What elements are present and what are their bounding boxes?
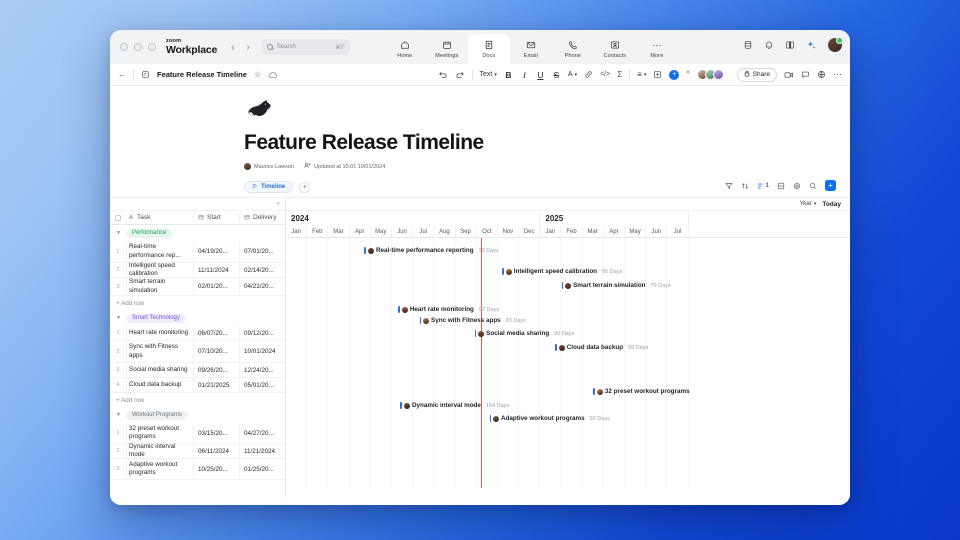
row-delivery-date[interactable]: 02/14/20... bbox=[239, 263, 285, 277]
gantt-gridline bbox=[456, 238, 477, 488]
row-delivery-date[interactable]: 11/21/2024 bbox=[239, 444, 285, 458]
row-task-name[interactable]: Dynamic interval mode bbox=[126, 444, 193, 458]
chevron-down-icon-zoom: ▾ bbox=[814, 201, 817, 207]
row-start-date[interactable]: 10/25/20... bbox=[193, 459, 239, 479]
column-header-delivery-label: Delivery bbox=[253, 214, 276, 221]
row-number: 2 bbox=[110, 263, 126, 277]
gantt-bar-duration: 164 Days bbox=[486, 403, 509, 409]
lock-icon bbox=[744, 70, 750, 79]
gantt-bar-avatar bbox=[493, 416, 499, 422]
gantt-month-label: Jul bbox=[667, 226, 688, 237]
gantt-gridline bbox=[307, 238, 328, 488]
row-number: 3 bbox=[110, 278, 126, 295]
row-start-date[interactable]: 07/10/20... bbox=[193, 341, 239, 362]
gantt-month-label: Jun bbox=[646, 226, 667, 237]
gantt-bar-label: Smart terrain simulation bbox=[573, 282, 645, 289]
maximize-window-button[interactable] bbox=[148, 43, 156, 51]
gantt-bar[interactable]: Smart terrain simulation79 Days bbox=[562, 280, 671, 291]
gantt-bar-label: Heart rate monitoring bbox=[410, 306, 474, 313]
gantt-gridline bbox=[434, 238, 455, 488]
updated-text: Updated at 10:01 10/01/2024 bbox=[314, 164, 385, 170]
row-task-name[interactable]: Cloud data backup bbox=[126, 378, 193, 392]
row-number: 3 bbox=[110, 363, 126, 377]
gantt-gridline bbox=[328, 238, 349, 488]
gantt-month-header: JanFebMarAprMayJunJulAugSepOctNovDecJanF… bbox=[286, 226, 850, 238]
timeline-toolbar: 1 + bbox=[725, 180, 836, 191]
timeline-tab-strip: Timeline + 1 bbox=[244, 181, 850, 193]
history-icon bbox=[304, 162, 311, 171]
timeline-view-icon bbox=[252, 183, 258, 191]
gantt-bar-avatar bbox=[423, 318, 429, 324]
row-task-name[interactable]: Smart terrain simulation bbox=[126, 278, 193, 295]
zoom-level-label: Year bbox=[800, 201, 812, 207]
chevron-down-icon-2: ▾ bbox=[575, 72, 578, 78]
doc-title-toolbar[interactable]: Feature Release Timeline bbox=[157, 70, 247, 79]
zoom-level-dropdown[interactable]: Year ▾ bbox=[800, 201, 817, 207]
column-header-task[interactable]: Task bbox=[126, 214, 193, 222]
gantt-month-label: Nov bbox=[498, 226, 519, 237]
gantt-month-label: Jan bbox=[540, 226, 561, 237]
table-row[interactable]: 4 Cloud data backup 01/21/2025 05/01/20.… bbox=[110, 378, 285, 393]
eagle-cover-image bbox=[244, 98, 274, 120]
gantt-gridline bbox=[646, 238, 667, 488]
gantt-bar-handle[interactable] bbox=[490, 415, 492, 422]
sort-icon[interactable] bbox=[741, 182, 749, 190]
font-color-button[interactable]: A ▾ bbox=[568, 71, 577, 78]
add-record-button[interactable]: + bbox=[825, 180, 836, 191]
chevron-down-icon: ▾ bbox=[494, 72, 497, 78]
gantt-month-label: Apr bbox=[350, 226, 371, 237]
collaborator-avatar-3[interactable] bbox=[713, 69, 724, 80]
gantt-bar-avatar bbox=[404, 403, 410, 409]
row-task-name[interactable]: 32 preset workout programs bbox=[126, 423, 193, 443]
tab-phone[interactable]: Phone bbox=[552, 34, 594, 64]
gantt-bar-avatar bbox=[565, 283, 571, 289]
group-badge-smart-technology: Smart Technology bbox=[126, 314, 186, 323]
chevron-down-icon-group-3[interactable]: ▼ bbox=[116, 412, 121, 418]
row-number: 2 bbox=[110, 444, 126, 458]
notifications-bell-icon[interactable] bbox=[764, 40, 774, 50]
row-height-icon[interactable] bbox=[777, 182, 785, 190]
insert-plus-button[interactable]: + bbox=[669, 70, 679, 80]
toolbar-divider-3 bbox=[629, 69, 630, 80]
gantt-month-label: Feb bbox=[307, 226, 328, 237]
tab-email-label: Email bbox=[524, 53, 538, 59]
gantt-year-header: 20242025 bbox=[286, 211, 850, 226]
gantt-gridline bbox=[371, 238, 392, 488]
gantt-month-label: Aug bbox=[434, 226, 455, 237]
redo-icon[interactable] bbox=[455, 70, 465, 79]
gantt-bar[interactable]: Dynamic interval mode164 Days bbox=[400, 400, 509, 411]
add-row-button[interactable]: + Add row bbox=[110, 296, 285, 310]
group-header-smart-technology[interactable]: ▼ Smart Technology bbox=[110, 310, 285, 326]
gantt-bar-label: Social media sharing bbox=[486, 330, 549, 337]
global-search-input[interactable]: Search ⌘F bbox=[262, 39, 350, 55]
table-row[interactable]: 3 Adaptive workout programs 10/25/20... … bbox=[110, 459, 285, 480]
task-column-icon bbox=[128, 214, 134, 222]
add-row-button[interactable]: + Add row bbox=[110, 393, 285, 407]
row-number: 1 bbox=[110, 423, 126, 443]
home-icon bbox=[400, 40, 410, 51]
phone-icon bbox=[568, 40, 578, 51]
settings-gear-icon[interactable] bbox=[793, 182, 801, 190]
document-header-block: Feature Release Timeline Maurice Lawson … bbox=[110, 86, 850, 171]
gantt-bar-duration: 83 Days bbox=[506, 318, 526, 324]
gantt-bar-handle[interactable] bbox=[400, 402, 402, 409]
row-start-date[interactable]: 11/11/2024 bbox=[193, 263, 239, 277]
select-all-checkbox[interactable] bbox=[110, 215, 126, 221]
table-row[interactable]: 2 Intelligent speed calibration 11/11/20… bbox=[110, 263, 285, 278]
gantt-bar-label: Intelligent speed calibration bbox=[514, 268, 597, 275]
gantt-gridline bbox=[667, 238, 688, 488]
gantt-gridline bbox=[413, 238, 434, 488]
gantt-bar-avatar bbox=[559, 345, 565, 351]
underline-button[interactable]: U bbox=[536, 70, 545, 80]
insert-media-icon[interactable] bbox=[653, 70, 662, 79]
gantt-gridline bbox=[286, 238, 307, 488]
row-start-date[interactable]: 04/19/20... bbox=[193, 241, 239, 262]
row-delivery-date[interactable]: 05/01/20... bbox=[239, 378, 285, 392]
gantt-bar[interactable]: Adaptive workout programs92 Days bbox=[490, 413, 610, 424]
gantt-gridline bbox=[350, 238, 371, 488]
row-start-date[interactable]: 09/26/20... bbox=[193, 363, 239, 377]
storage-icon[interactable] bbox=[743, 40, 753, 50]
document-toolbar: ← Feature Release Timeline ☆ Text ▾ B I … bbox=[110, 64, 850, 86]
document-meta: Maurice Lawson Updated at 10:01 10/01/20… bbox=[244, 162, 850, 171]
row-delivery-date[interactable]: 10/01/2024 bbox=[239, 341, 285, 362]
gantt-container: « Task Start bbox=[110, 197, 850, 497]
gantt-bar-duration: 97 Days bbox=[479, 307, 499, 313]
font-color-label: A bbox=[568, 71, 573, 78]
group-header-workout-programs[interactable]: ▼ Workout Programs bbox=[110, 407, 285, 423]
gantt-month-label: Oct bbox=[477, 226, 498, 237]
gantt-bar[interactable]: Real-time performance reporting73 Days bbox=[364, 245, 498, 256]
video-call-icon[interactable] bbox=[784, 71, 794, 79]
gantt-bar[interactable]: Social media sharing90 Days bbox=[475, 328, 575, 339]
document-icon bbox=[484, 40, 494, 51]
chevron-down-icon-3: ▾ bbox=[644, 72, 647, 78]
italic-button[interactable]: I bbox=[520, 70, 529, 80]
gantt-plot-area: Real-time performance reporting73 DaysIn… bbox=[286, 238, 850, 488]
gantt-bar-duration: 92 Days bbox=[590, 416, 610, 422]
bold-button[interactable]: B bbox=[504, 70, 513, 80]
code-icon[interactable]: </> bbox=[600, 71, 610, 78]
gantt-bar-duration: 95 Days bbox=[602, 269, 622, 275]
search-placeholder: Search bbox=[277, 44, 296, 50]
user-avatar[interactable] bbox=[828, 38, 842, 52]
tab-email[interactable]: Email bbox=[510, 34, 552, 64]
gantt-bar-label: Sync with Fitness apps bbox=[431, 317, 501, 324]
table-row[interactable]: 2 Sync with Fitness apps 07/10/20... 10/… bbox=[110, 341, 285, 363]
gantt-bar-handle[interactable] bbox=[475, 330, 477, 337]
document-updated: Updated at 10:01 10/01/2024 bbox=[304, 162, 385, 171]
tab-phone-label: Phone bbox=[565, 53, 581, 59]
gantt-bar-handle[interactable] bbox=[398, 306, 400, 313]
cloud-sync-icon bbox=[268, 71, 278, 79]
window-titlebar: zoom Workplace ‹ › Search ⌘F Home Mee bbox=[110, 30, 850, 64]
author-name: Maurice Lawson bbox=[254, 164, 294, 170]
gantt-month-label: Dec bbox=[519, 226, 540, 237]
minimize-window-button[interactable] bbox=[134, 43, 142, 51]
row-number: 1 bbox=[110, 326, 126, 340]
group-icon[interactable]: 1 bbox=[757, 182, 769, 190]
column-header-start-label: Start bbox=[207, 214, 221, 221]
gantt-bar-handle[interactable] bbox=[502, 268, 504, 275]
close-window-button[interactable] bbox=[120, 43, 128, 51]
text-style-label: Text bbox=[480, 71, 493, 78]
collapse-toolbar-icon[interactable]: ^ bbox=[686, 71, 689, 78]
tab-home-label: Home bbox=[397, 53, 412, 59]
gantt-month-label: May bbox=[625, 226, 646, 237]
toolbar-divider-2 bbox=[472, 69, 473, 80]
row-delivery-date[interactable]: 12/24/20... bbox=[239, 363, 285, 377]
group-badge-performance: Performance bbox=[126, 229, 172, 238]
strikethrough-button[interactable]: S bbox=[552, 70, 561, 80]
row-task-name[interactable]: Real-time performance rep... bbox=[126, 241, 193, 262]
task-table: « Task Start bbox=[110, 198, 286, 497]
chevron-down-icon-group-1[interactable]: ▼ bbox=[116, 230, 121, 236]
more-options-icon[interactable]: ⋯ bbox=[833, 69, 842, 80]
globe-icon[interactable] bbox=[817, 70, 826, 79]
row-delivery-date[interactable]: 04/27/20... bbox=[239, 423, 285, 443]
tab-meetings-label: Meetings bbox=[435, 53, 458, 59]
formula-icon[interactable]: Σ bbox=[617, 70, 622, 79]
gantt-bar[interactable]: 32 preset workout programs bbox=[593, 386, 689, 397]
gantt-bar[interactable]: Heart rate monitoring97 Days bbox=[398, 304, 499, 315]
gantt-bar-label: 32 preset workout programs bbox=[605, 388, 690, 395]
gantt-month-label: Jun bbox=[392, 226, 413, 237]
share-label: Share bbox=[753, 71, 770, 78]
row-delivery-date[interactable]: 07/01/20... bbox=[239, 241, 285, 262]
table-row[interactable]: 2 Dynamic interval mode 06/11/2024 11/21… bbox=[110, 444, 285, 459]
row-task-name[interactable]: Sync with Fitness apps bbox=[126, 341, 193, 362]
nav-arrows: ‹ › bbox=[231, 30, 250, 64]
gantt-bar[interactable]: Sync with Fitness apps83 Days bbox=[420, 315, 526, 326]
gantt-month-label: May bbox=[371, 226, 392, 237]
today-marker-line bbox=[481, 238, 482, 488]
back-button[interactable]: ← bbox=[118, 70, 126, 79]
gantt-bar[interactable]: Cloud data backup99 Days bbox=[555, 342, 648, 353]
timeline-search-icon[interactable] bbox=[809, 182, 817, 190]
tab-docs-label: Docs bbox=[482, 53, 495, 59]
gantt-month-label: Mar bbox=[328, 226, 349, 237]
table-row[interactable]: 3 Social media sharing 09/26/20... 12/24… bbox=[110, 363, 285, 378]
gantt-month-label: Jul bbox=[413, 226, 434, 237]
collaborator-avatars bbox=[697, 69, 724, 80]
start-column-icon bbox=[198, 214, 204, 222]
titlebar-right-actions bbox=[743, 30, 842, 64]
gantt-bar-duration: 79 Days bbox=[651, 283, 671, 289]
table-row[interactable]: 3 Smart terrain simulation 02/01/20... 0… bbox=[110, 278, 285, 296]
contacts-icon bbox=[610, 40, 620, 51]
gantt-bar-handle[interactable] bbox=[562, 282, 564, 289]
gantt-bar[interactable]: Intelligent speed calibration95 Days bbox=[502, 266, 622, 277]
tab-more-label: More bbox=[650, 53, 663, 59]
search-shortcut-hint: ⌘F bbox=[335, 44, 345, 51]
gantt-year-label-2024: 2024 bbox=[286, 211, 540, 226]
gantt-bar-label: Dynamic interval mode bbox=[412, 402, 481, 409]
tab-contacts[interactable]: Contacts bbox=[594, 34, 636, 64]
zoom-workplace-logo: zoom Workplace bbox=[166, 30, 217, 64]
gantt-gridline bbox=[625, 238, 646, 488]
gantt-month-label: Feb bbox=[561, 226, 582, 237]
group-badge-workout-programs: Workout Programs bbox=[126, 411, 188, 420]
table-header-row: Task Start Delivery bbox=[110, 211, 285, 225]
gantt-bar-handle[interactable] bbox=[593, 388, 595, 395]
gantt-gridline bbox=[392, 238, 413, 488]
gantt-bar-handle[interactable] bbox=[364, 247, 366, 254]
gantt-bar-handle[interactable] bbox=[555, 344, 557, 351]
today-button[interactable]: Today bbox=[821, 200, 842, 209]
tab-timeline[interactable]: Timeline bbox=[244, 181, 293, 193]
gantt-bar-label: Adaptive workout programs bbox=[501, 415, 585, 422]
ellipsis-icon: ⋯ bbox=[652, 40, 661, 51]
row-delivery-date[interactable]: 09/12/20... bbox=[239, 326, 285, 340]
align-dropdown[interactable]: ≡ ▾ bbox=[637, 70, 646, 79]
column-header-delivery[interactable]: Delivery bbox=[239, 214, 285, 222]
column-header-start[interactable]: Start bbox=[193, 214, 239, 222]
row-task-name[interactable]: Adaptive workout programs bbox=[126, 459, 193, 479]
gantt-bar-handle[interactable] bbox=[420, 317, 422, 324]
row-task-name[interactable]: Heart rate monitoring bbox=[126, 326, 193, 340]
gantt-chart-controls: Year ▾ Today bbox=[286, 198, 850, 211]
forward-arrow-icon[interactable]: › bbox=[246, 42, 249, 53]
ai-sparkle-icon[interactable] bbox=[806, 40, 817, 51]
undo-icon[interactable] bbox=[438, 70, 448, 79]
app-window: zoom Workplace ‹ › Search ⌘F Home Mee bbox=[110, 30, 850, 505]
table-row[interactable]: 1 Heart rate monitoring 06/07/20... 09/1… bbox=[110, 326, 285, 341]
tab-docs[interactable]: Docs bbox=[468, 34, 510, 64]
gantt-bar-avatar bbox=[597, 389, 603, 395]
traffic-lights bbox=[120, 30, 156, 64]
row-number: 2 bbox=[110, 341, 126, 362]
gantt-bar-avatar bbox=[402, 307, 408, 313]
row-task-name[interactable]: Social media sharing bbox=[126, 363, 193, 377]
row-delivery-date[interactable]: 01/25/20... bbox=[239, 459, 285, 479]
document-body: Feature Release Timeline Maurice Lawson … bbox=[110, 86, 850, 505]
gantt-month-label: Apr bbox=[604, 226, 625, 237]
gantt-bar-avatar bbox=[368, 248, 374, 254]
timeline-tab-label: Timeline bbox=[261, 184, 285, 190]
document-author: Maurice Lawson bbox=[244, 163, 294, 170]
brand-workplace-text: Workplace bbox=[166, 45, 217, 56]
add-view-button[interactable]: + bbox=[299, 182, 310, 193]
filter-icon[interactable] bbox=[725, 182, 733, 190]
calendar-icon bbox=[442, 40, 452, 51]
layout-toggle-icon[interactable] bbox=[785, 40, 795, 50]
main-nav-tabs: Home Meetings Docs Email bbox=[384, 30, 678, 64]
search-icon bbox=[267, 44, 273, 50]
row-number: 1 bbox=[110, 241, 126, 262]
back-arrow-icon[interactable]: ‹ bbox=[231, 42, 234, 53]
gantt-month-label: Sep bbox=[456, 226, 477, 237]
tab-home[interactable]: Home bbox=[384, 34, 426, 64]
delivery-column-icon bbox=[244, 214, 250, 222]
row-delivery-date[interactable]: 04/21/20... bbox=[239, 278, 285, 295]
page-title: Feature Release Timeline bbox=[244, 131, 850, 155]
chevron-down-icon-group-2[interactable]: ▼ bbox=[116, 315, 121, 321]
tab-meetings[interactable]: Meetings bbox=[426, 34, 468, 64]
gantt-bar-duration: 99 Days bbox=[628, 345, 648, 351]
tab-more[interactable]: ⋯ More bbox=[636, 34, 678, 64]
link-icon[interactable] bbox=[584, 70, 593, 79]
row-start-date[interactable]: 03/15/20... bbox=[193, 423, 239, 443]
row-task-name[interactable]: Intelligent speed calibration bbox=[126, 263, 193, 277]
row-start-date[interactable]: 02/01/20... bbox=[193, 278, 239, 295]
gantt-bar-avatar bbox=[506, 269, 512, 275]
table-row[interactable]: 1 32 preset workout programs 03/15/20...… bbox=[110, 423, 285, 444]
doc-type-icon[interactable] bbox=[141, 70, 150, 79]
text-style-dropdown[interactable]: Text ▾ bbox=[480, 71, 497, 78]
row-start-date[interactable]: 01/21/2025 bbox=[193, 378, 239, 392]
mail-icon bbox=[526, 40, 536, 51]
author-avatar bbox=[244, 163, 251, 170]
gantt-year-label-2025: 2025 bbox=[540, 211, 688, 226]
gantt-bar-label: Real-time performance reporting bbox=[376, 247, 474, 254]
share-button[interactable]: Share bbox=[737, 68, 777, 82]
gantt-month-label: Jan bbox=[286, 226, 307, 237]
row-start-date[interactable]: 06/07/20... bbox=[193, 326, 239, 340]
tab-contacts-label: Contacts bbox=[604, 53, 627, 59]
gantt-month-label: Mar bbox=[583, 226, 604, 237]
comment-icon[interactable] bbox=[801, 70, 810, 79]
row-start-date[interactable]: 06/11/2024 bbox=[193, 444, 239, 458]
row-number: 3 bbox=[110, 459, 126, 479]
group-count-badge: 1 bbox=[766, 183, 769, 189]
row-number: 4 bbox=[110, 378, 126, 392]
group-header-performance[interactable]: ▼ Performance bbox=[110, 225, 285, 241]
gantt-bar-duration: 73 Days bbox=[479, 248, 499, 254]
collapse-panel-button[interactable]: « bbox=[110, 198, 285, 211]
gantt-bar-duration: 90 Days bbox=[554, 331, 574, 337]
gantt-bar-avatar bbox=[478, 331, 484, 337]
star-icon[interactable]: ☆ bbox=[254, 70, 261, 79]
column-header-task-label: Task bbox=[137, 214, 150, 221]
gantt-bar-label: Cloud data backup bbox=[567, 344, 623, 351]
table-row[interactable]: 1 Real-time performance rep... 04/19/20.… bbox=[110, 241, 285, 263]
gantt-chart: Year ▾ Today 20242025 JanFebMarAprMayJun… bbox=[286, 198, 850, 497]
toolbar-divider bbox=[133, 69, 134, 80]
align-icon: ≡ bbox=[637, 70, 642, 79]
